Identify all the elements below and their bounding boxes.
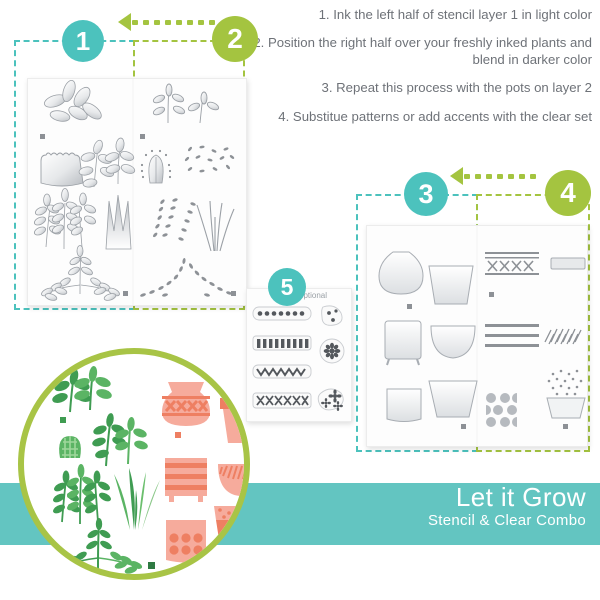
stencil-shape-spiky-grass [106,195,131,249]
stencil-shape-branch-berry-pair [78,138,136,189]
pattern-xxxx-band [485,252,539,275]
pot-tapered [429,266,473,304]
clear-stamp-sheet[interactable] [246,288,352,422]
product-title: Let it Grow [428,484,586,511]
arrow-dots-icon [132,20,215,25]
stencil-sheet-layer-2[interactable] [366,225,588,447]
instruction-step-2: 2. Position the right half over your fre… [244,34,592,68]
pattern-hatch-patch [545,329,581,344]
instruction-step-4: 4. Substitue patterns or add accents wit… [244,108,592,125]
preview-plant-berry-branch [91,412,149,466]
arrow-head-icon [118,13,131,31]
arrow-head-icon-2 [450,167,463,185]
stencil-shape-leaf-spray [43,79,104,123]
badge-3-label: 3 [418,181,433,208]
stencil-shape-seed-spray [145,198,196,242]
badge-5-label: 5 [281,276,294,299]
badge-1-label: 1 [76,28,90,54]
badge-2-label: 2 [227,25,243,53]
badge-3[interactable]: 3 [404,172,448,216]
badge-2[interactable]: 2 [212,16,258,62]
pot-cylinder [387,389,421,422]
pot-bowl [431,326,475,358]
preview-plant-tall-grass [114,468,160,530]
clear-strip-xxxx [253,393,311,408]
pattern-triple-line [485,324,539,347]
preview-plant-fern [54,518,143,575]
stencil-shape-cactus-outline [141,150,171,183]
instruction-step-3: 3. Repeat this process with the pots on … [244,79,592,96]
badge-4-label: 4 [560,179,576,207]
pattern-dot-scatter [547,370,585,418]
arrow-layer2 [450,167,536,185]
product-preview-circle[interactable] [18,348,250,580]
stencil-shape-dash-burst [184,145,235,172]
arrow-layer1 [118,13,215,31]
instruction-step-1: 1. Ink the left half of stencil layer 1 … [244,6,592,23]
stencil-shape-thin-grass [197,201,234,251]
pot-round-vase [379,252,423,294]
stencil-shape-wheat-trio [33,189,97,250]
preview-pot-hatched-bowl [218,464,250,496]
banner-text-block: Let it Grow Stencil & Clear Combo [428,484,586,530]
arrow-dots-icon-2 [464,174,536,179]
stencil-shape-dash-arc [140,258,233,298]
preview-plant-leafy-branch [51,366,113,412]
clear-blob-dots [322,306,342,325]
badge-1[interactable]: 1 [62,20,104,62]
stencil-shape-twig-pair [152,84,220,123]
pattern-dot-grid [486,393,517,427]
product-subtitle: Stencil & Clear Combo [428,512,586,530]
stencil-shape-fern-spray [40,246,120,302]
badge-5[interactable]: 5 [268,268,306,306]
pot-trapezoid [429,381,477,417]
poster-canvas: 1. Ink the left half of stencil layer 1 … [0,0,600,600]
instructions-block: 1. Ink the left half of stencil layer 1 … [244,6,592,136]
pattern-solid-band [551,258,585,269]
preview-pot-xxxx-vase [162,382,210,426]
clear-blob-flower [320,339,344,363]
registration-mark [40,134,45,139]
stencil-sheet-layer-1[interactable] [27,78,247,306]
pot-footed [385,321,421,359]
preview-plant-wheat-trio [52,464,113,524]
clear-blob-flower-dots [318,389,343,411]
preview-pot-dotted-bag [166,520,206,563]
preview-plant-cactus [59,436,81,458]
badge-4[interactable]: 4 [545,170,591,216]
stencil-shape-pot-scallop [41,153,83,186]
preview-pot-striped-footed [165,458,207,502]
